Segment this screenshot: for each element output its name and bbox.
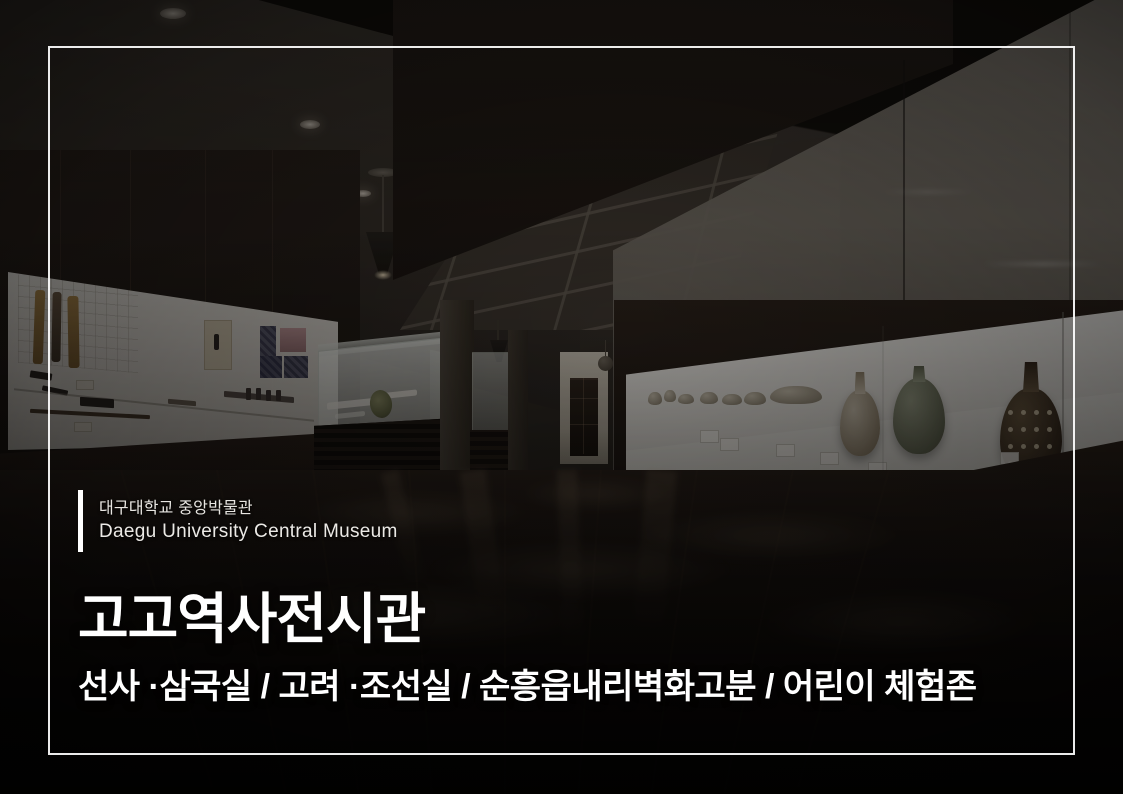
vessel-inlay-dot	[1021, 410, 1026, 415]
cabinet-detail-line	[583, 378, 584, 454]
pendant-lamp-cord	[497, 320, 499, 342]
ceramic-artifact	[770, 386, 822, 404]
vessel-inlay-dot	[1008, 444, 1013, 449]
page-subtitle: 선사 ·삼국실 / 고려 ·조선실 / 순흥읍내리벽화고분 / 어린이 체험존	[78, 670, 977, 704]
page-title: 고고역사전시관	[78, 592, 425, 647]
glass-highlight	[883, 190, 973, 194]
ceramic-artifact	[648, 392, 662, 405]
vessel-inlay-dot	[1021, 427, 1026, 432]
downlight-icon	[300, 120, 320, 129]
museum-name-korean: 대구대학교 중앙박물관	[99, 497, 398, 520]
vessel-inlay-dot	[1034, 410, 1039, 415]
exhibit-label-card	[720, 438, 739, 451]
hero-banner: 대구대학교 중앙박물관 Daegu University Central Mus…	[0, 0, 1123, 794]
museum-caption: 대구대학교 중앙박물관 Daegu University Central Mus…	[78, 490, 398, 552]
vessel-inlay-dot	[1047, 410, 1052, 415]
ceramic-vessel-neck	[1023, 362, 1039, 392]
ceramic-artifact	[678, 394, 694, 404]
downlight-icon	[160, 8, 186, 19]
ceramic-vessel	[840, 390, 880, 456]
ceramic-artifact	[664, 390, 676, 402]
vessel-inlay-dot	[1008, 427, 1013, 432]
floor-reflection	[640, 510, 900, 562]
ceramic-vessel	[893, 378, 945, 454]
pendant-lamp-cord	[382, 175, 384, 235]
pendant-lamp-glow	[374, 270, 392, 280]
glass-highlight	[983, 262, 1103, 266]
cabinet-detail-line	[570, 424, 598, 425]
vessel-inlay-dot	[1034, 427, 1039, 432]
cabinet-detail-line	[570, 398, 598, 399]
hanging-ornament	[598, 356, 613, 371]
ceramic-vessel-neck	[855, 372, 866, 394]
ceramic-artifact	[722, 394, 742, 405]
ceramic-artifact	[700, 392, 718, 404]
vessel-inlay-dot	[1047, 444, 1052, 449]
exhibit-label-card	[700, 430, 719, 443]
exhibit-label-card	[820, 452, 839, 465]
museum-name-english: Daegu University Central Museum	[99, 520, 398, 545]
exhibit-label-card	[776, 444, 795, 457]
vessel-inlay-dot	[1047, 427, 1052, 432]
floor-reflection	[760, 590, 1040, 654]
ceramic-artifact	[744, 392, 766, 405]
caption-accent-bar	[78, 490, 83, 552]
vessel-inlay-dot	[1034, 444, 1039, 449]
alcove-display-cabinet	[570, 378, 598, 456]
vessel-inlay-dot	[1008, 410, 1013, 415]
vessel-inlay-dot	[1021, 444, 1026, 449]
ceramic-vessel-neck	[913, 366, 926, 382]
